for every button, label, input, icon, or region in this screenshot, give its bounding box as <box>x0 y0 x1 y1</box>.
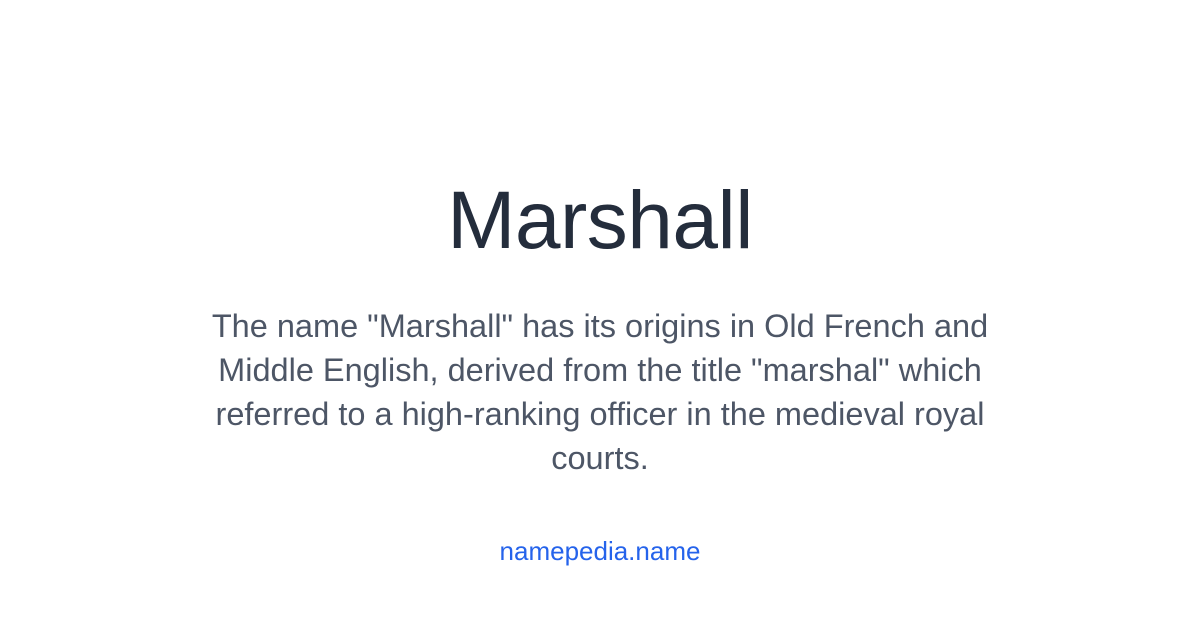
name-description-text: The name "Marshall" has its origins in O… <box>185 304 1015 480</box>
page-title: Marshall <box>447 180 753 262</box>
open-graph-preview-card: Marshall The name "Marshall" has its ori… <box>0 0 1200 630</box>
site-link[interactable]: namepedia.name <box>500 538 701 564</box>
content-stack: Marshall The name "Marshall" has its ori… <box>0 0 1200 564</box>
